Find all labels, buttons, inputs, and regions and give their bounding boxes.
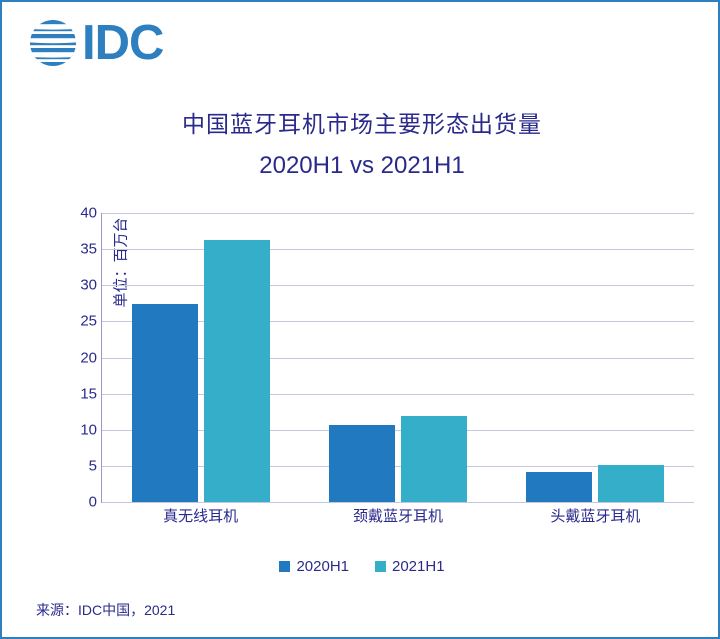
y-axis-ticks: 0510152025303540 [42,213,97,502]
y-tick-label: 30 [53,277,97,294]
idc-globe-icon [28,18,78,68]
idc-logo-text: IDC [82,18,163,68]
legend-label: 2021H1 [392,558,445,575]
bar-2020H1-颈戴蓝牙耳机[interactable] [329,425,395,502]
y-tick-label: 15 [53,385,97,402]
y-tick-label: 5 [53,457,97,474]
gridline [102,502,694,503]
source-note: 来源：IDC中国，2021 [36,600,175,620]
bar-group [299,213,496,502]
legend-label: 2020H1 [296,558,349,575]
bar-2021H1-头戴蓝牙耳机[interactable] [598,465,664,502]
chart-title: 中国蓝牙耳机市场主要形态出货量 [2,105,720,139]
legend-swatch-icon [279,561,290,572]
legend-item-2021H1[interactable]: 2021H1 [375,558,445,575]
x-category-label: 颈戴蓝牙耳机 [299,505,496,526]
legend-swatch-icon [375,561,386,572]
y-tick-label: 0 [53,494,97,511]
chart-area: 单位：百万台 0510152025303540 真无线耳机颈戴蓝牙耳机头戴蓝牙耳… [42,202,702,512]
x-category-label: 真无线耳机 [102,505,299,526]
y-tick-label: 25 [53,313,97,330]
y-tick-label: 20 [53,349,97,366]
chart-legend: 2020H12021H1 [2,558,720,575]
bar-2021H1-真无线耳机[interactable] [204,240,270,502]
bar-group [102,213,299,502]
bar-2020H1-真无线耳机[interactable] [132,304,198,502]
y-tick-label: 35 [53,241,97,258]
y-tick-label: 10 [53,421,97,438]
bar-2020H1-头戴蓝牙耳机[interactable] [526,472,592,502]
x-category-label: 头戴蓝牙耳机 [497,505,694,526]
y-tick-label: 40 [53,205,97,222]
bar-group [497,213,694,502]
bar-2021H1-颈戴蓝牙耳机[interactable] [401,416,467,502]
chart-page: IDC 中国蓝牙耳机市场主要形态出货量 2020H1 vs 2021H1 单位：… [0,0,720,639]
idc-logo: IDC [28,18,163,68]
plot-area [102,213,694,502]
legend-item-2020H1[interactable]: 2020H1 [279,558,349,575]
